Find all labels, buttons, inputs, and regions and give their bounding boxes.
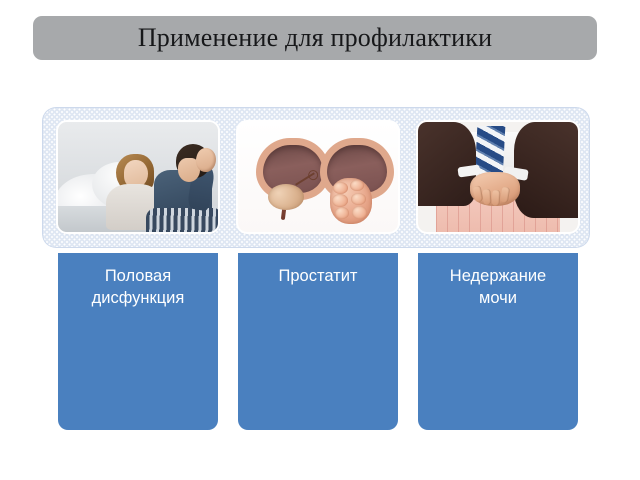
photo-3-content <box>418 122 578 232</box>
caption-label: Недержание мочи <box>426 265 570 309</box>
photo-1-content <box>58 122 218 232</box>
nodule <box>332 194 348 207</box>
suit-jacket-left <box>418 122 476 206</box>
nodule <box>351 193 366 205</box>
prostate-diagram-image <box>238 122 398 232</box>
caption-card-prostatitis[interactable]: Простатит <box>238 253 398 430</box>
man-striped-pants <box>146 208 218 232</box>
nodule <box>350 180 364 191</box>
caption-card-sexual-dysfunction[interactable]: Половая дисфункция <box>58 253 218 430</box>
clasped-hands <box>470 172 520 206</box>
photo-panel <box>42 107 590 248</box>
nodule <box>352 206 367 219</box>
prostate-normal-icon <box>268 184 304 210</box>
photo-2-content <box>238 122 398 232</box>
finger <box>500 186 510 203</box>
nodule <box>333 182 348 194</box>
couple-on-bed-photo <box>58 122 218 232</box>
finger <box>473 185 484 202</box>
nodule <box>335 207 349 219</box>
prostate-enlarged-icon <box>330 178 372 224</box>
finger <box>492 190 501 206</box>
caption-card-urinary-incontinence[interactable]: Недержание мочи <box>418 253 578 430</box>
page-title: Применение для профилактики <box>138 24 492 52</box>
finger <box>482 189 491 206</box>
man-holding-groin-photo <box>418 122 578 232</box>
caption-label: Половая дисфункция <box>66 265 210 309</box>
caption-label: Простатит <box>246 265 390 287</box>
slide-title-banner: Применение для профилактики <box>33 16 597 60</box>
